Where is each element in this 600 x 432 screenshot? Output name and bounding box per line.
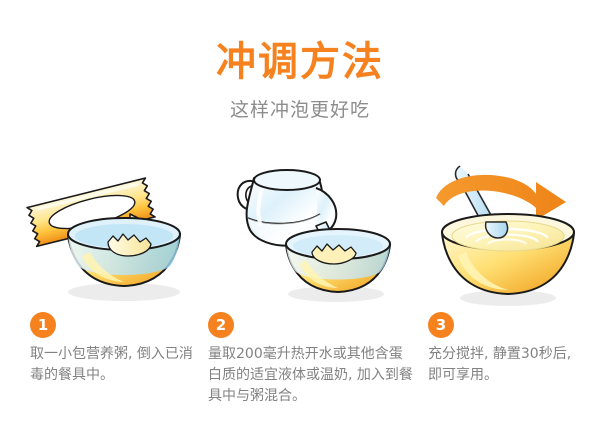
instruction-page: 冲调方法 这样冲泡更好吃	[0, 0, 600, 432]
steps-row: 1 取一小包营养粥, 倒入已消毒的餐具中。 2 量取200毫升热开水或其他含蛋白…	[0, 312, 600, 432]
step-number-badge-2: 2	[208, 312, 234, 338]
page-title: 冲调方法	[0, 38, 600, 86]
illustration-step-1	[20, 160, 220, 310]
step-description-3: 充分搅拌, 静置30秒后, 即可享用。	[428, 344, 588, 386]
step-description-1: 取一小包营养粥, 倒入已消毒的餐具中。	[30, 344, 202, 386]
step-1: 1 取一小包营养粥, 倒入已消毒的餐具中。	[30, 312, 202, 386]
step-2: 2 量取200毫升热开水或其他含蛋白质的适宜液体或温奶, 加入到餐具中与粥混合。	[208, 312, 416, 407]
step-description-2: 量取200毫升热开水或其他含蛋白质的适宜液体或温奶, 加入到餐具中与粥混合。	[208, 344, 416, 407]
bowl-with-powder	[286, 229, 390, 292]
step-3: 3 充分搅拌, 静置30秒后, 即可享用。	[428, 312, 588, 386]
illustration-step-2	[228, 160, 423, 310]
illustration-step-3	[420, 160, 595, 310]
page-header: 冲调方法 这样冲泡更好吃	[0, 38, 600, 124]
step-number-badge-1: 1	[30, 312, 56, 338]
illustration-row	[0, 160, 600, 310]
step-number-badge-3: 3	[428, 312, 454, 338]
bowl-with-porridge	[442, 214, 574, 294]
bowl	[68, 218, 180, 286]
page-subtitle: 这样冲泡更好吃	[0, 96, 600, 124]
